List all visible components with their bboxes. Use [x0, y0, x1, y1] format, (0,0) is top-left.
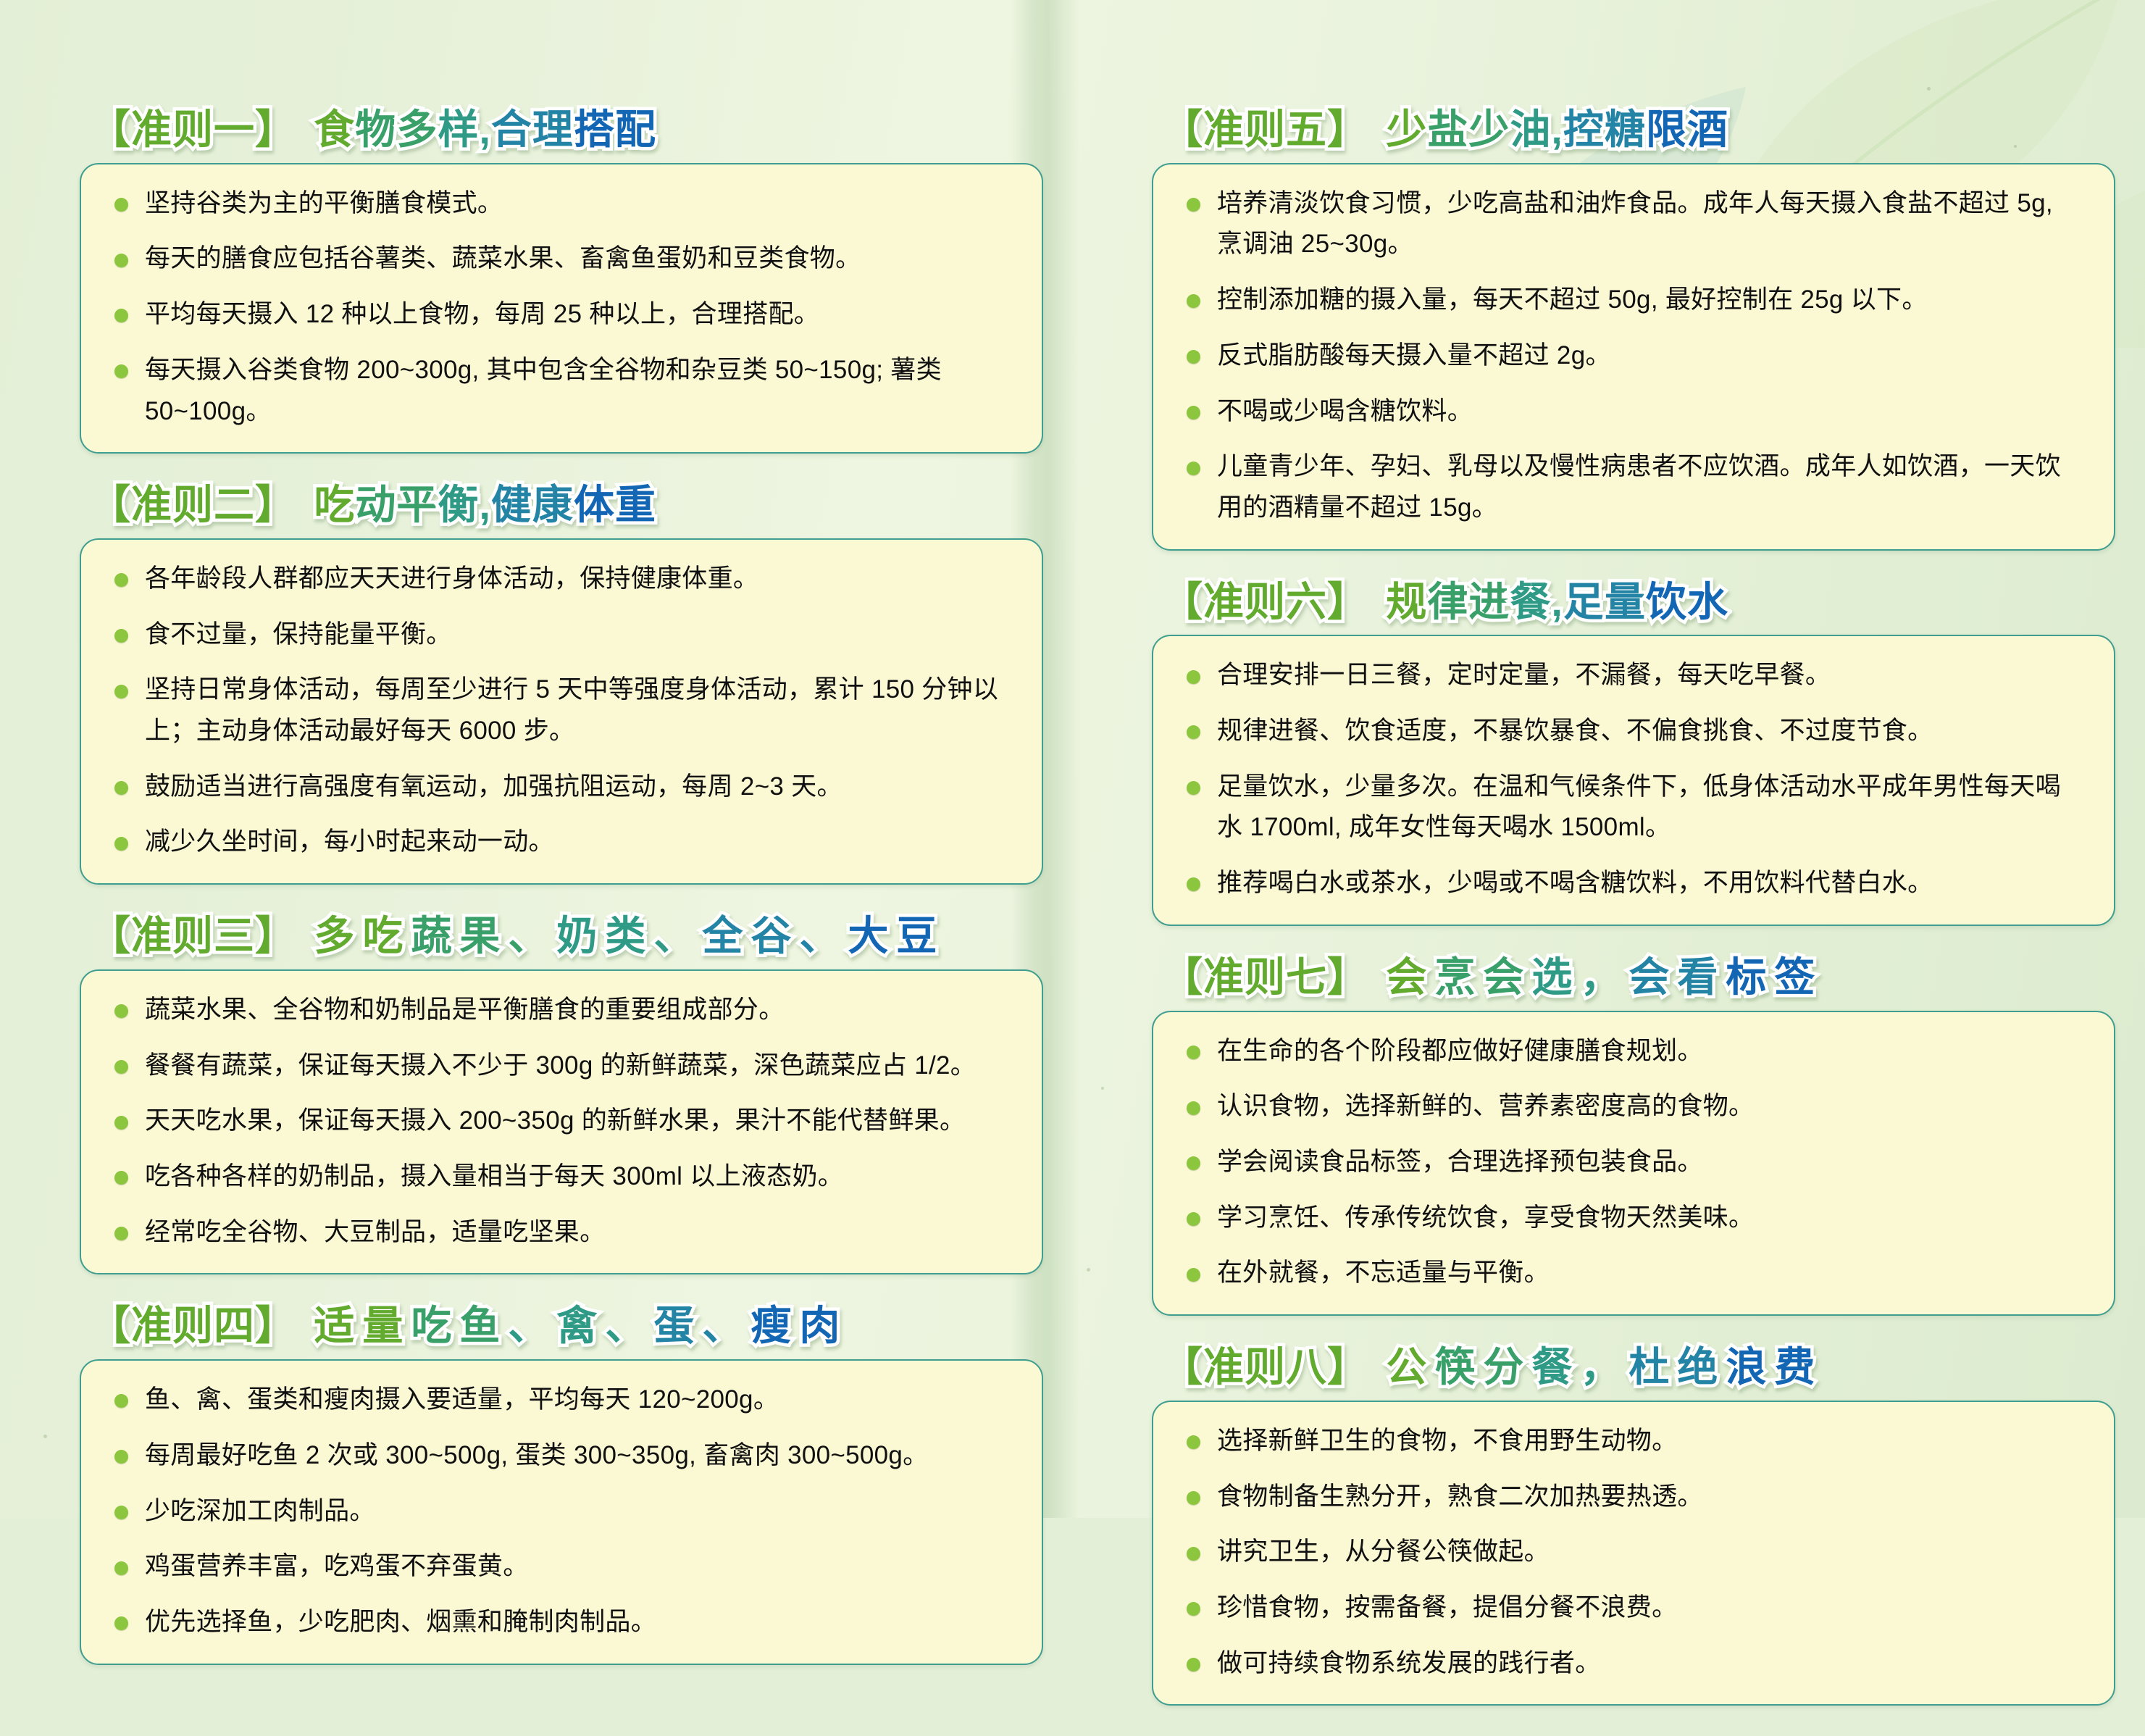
guideline-section: 【准则一】 食物多样,合理搭配坚持谷类为主的平衡膳食模式。每天的膳食应包括谷薯类…: [80, 109, 1043, 454]
bullet-dot-icon: [114, 1004, 128, 1018]
bullet-dot-icon: [1187, 294, 1200, 308]
bullet-dot-icon: [1187, 1268, 1200, 1282]
bullet-dot-icon: [1187, 1658, 1200, 1672]
section-label: 【准则八】: [1162, 1344, 1368, 1390]
list-item-text: 每周最好吃鱼 2 次或 300~500g, 蛋类 300~350g, 畜禽肉 3…: [145, 1441, 928, 1469]
bullet-dot-icon: [114, 309, 128, 322]
section-title-text: 会烹会选，会看标签: [1386, 954, 1823, 1000]
list-item-text: 学习烹饪、传承传统饮食，享受食物天然美味。: [1217, 1203, 1754, 1232]
list-item-text: 坚持日常身体活动，每周至少进行 5 天中等强度身体活动，累计 150 分钟以上；…: [145, 675, 998, 745]
list-item-text: 在生命的各个阶段都应做好健康膳食规划。: [1217, 1037, 1703, 1065]
section-title: 【准则三】 多吃蔬果、奶类、全谷、大豆: [80, 915, 1043, 958]
list-item: 珍惜食物，按需备餐，提倡分餐不浪费。: [1178, 1587, 2085, 1629]
list-item-text: 优先选择鱼，少吃肥肉、烟熏和腌制肉制品。: [145, 1608, 656, 1636]
section-title-text: 适量吃鱼、禽、蛋、瘦肉: [314, 1303, 848, 1348]
bullet-dot-icon: [114, 1561, 128, 1575]
list-item: 吃各种各样的奶制品，摄入量相当于每天 300ml 以上液态奶。: [106, 1156, 1013, 1198]
list-item: 不喝或少喝含糖饮料。: [1178, 391, 2085, 433]
guideline-section: 【准则六】 规律进餐,足量饮水合理安排一日三餐，定时定量，不漏餐，每天吃早餐。规…: [1152, 581, 2115, 926]
section-label: 【准则七】: [1162, 954, 1368, 1000]
guideline-list: 选择新鲜卫生的食物，不食用野生动物。食物制备生熟分开，熟食二次加热要热透。讲究卫…: [1178, 1421, 2085, 1684]
list-item: 坚持日常身体活动，每周至少进行 5 天中等强度身体活动，累计 150 分钟以上；…: [106, 669, 1013, 751]
section-title: 【准则四】 适量吃鱼、禽、蛋、瘦肉: [80, 1305, 1043, 1348]
list-item-text: 规律进餐、饮食适度，不暴饮暴食、不偏食挑食、不过度节食。: [1217, 717, 1933, 745]
list-item: 学会阅读食品标签，合理选择预包装食品。: [1178, 1142, 2085, 1183]
bullet-dot-icon: [1187, 725, 1200, 739]
list-item-text: 天天吃水果，保证每天摄入 200~350g 的新鲜水果，果汁不能代替鲜果。: [145, 1106, 965, 1135]
list-item-text: 鱼、禽、蛋类和瘦肉摄入要适量，平均每天 120~200g。: [145, 1385, 779, 1414]
list-item-text: 培养清淡饮食习惯，少吃高盐和油炸食品。成年人每天摄入食盐不超过 5g, 烹调油 …: [1217, 189, 2053, 259]
list-item: 培养清淡饮食习惯，少吃高盐和油炸食品。成年人每天摄入食盐不超过 5g, 烹调油 …: [1178, 183, 2085, 265]
bullet-dot-icon: [114, 1450, 128, 1464]
guideline-card: 选择新鲜卫生的食物，不食用野生动物。食物制备生熟分开，熟食二次加热要热透。讲究卫…: [1152, 1401, 2115, 1706]
list-item: 足量饮水，少量多次。在温和气候条件下，低身体活动水平成年男性每天喝水 1700m…: [1178, 767, 2085, 848]
list-item: 平均每天摄入 12 种以上食物，每周 25 种以上，合理搭配。: [106, 294, 1013, 335]
list-item-text: 鼓励适当进行高强度有氧运动，加强抗阻运动，每周 2~3 天。: [145, 772, 842, 801]
section-title: 【准则五】 少盐少油,控糖限酒: [1152, 109, 2115, 151]
list-item-text: 认识食物，选择新鲜的、营养素密度高的食物。: [1217, 1092, 1754, 1120]
list-item-text: 坚持谷类为主的平衡膳食模式。: [145, 189, 503, 217]
list-item-text: 在外就餐，不忘适量与平衡。: [1217, 1259, 1550, 1287]
list-item: 鸡蛋营养丰富，吃鸡蛋不弃蛋黄。: [106, 1546, 1013, 1587]
list-item: 在生命的各个阶段都应做好健康膳食规划。: [1178, 1031, 2085, 1072]
list-item: 合理安排一日三餐，定时定量，不漏餐，每天吃早餐。: [1178, 655, 2085, 696]
list-item-text: 足量饮水，少量多次。在温和气候条件下，低身体活动水平成年男性每天喝水 1700m…: [1217, 772, 2061, 842]
bullet-dot-icon: [1187, 1156, 1200, 1170]
bullet-dot-icon: [114, 573, 128, 587]
guideline-section: 【准则四】 适量吃鱼、禽、蛋、瘦肉鱼、禽、蛋类和瘦肉摄入要适量，平均每天 120…: [80, 1305, 1043, 1664]
bullet-dot-icon: [114, 254, 128, 267]
list-item: 坚持谷类为主的平衡膳食模式。: [106, 183, 1013, 225]
bullet-dot-icon: [114, 1171, 128, 1185]
list-item-text: 平均每天摄入 12 种以上食物，每周 25 种以上，合理搭配。: [145, 300, 819, 328]
list-item-text: 控制添加糖的摄入量，每天不超过 50g, 最好控制在 25g 以下。: [1217, 285, 1928, 314]
list-item: 讲究卫生，从分餐公筷做起。: [1178, 1532, 2085, 1573]
list-item: 控制添加糖的摄入量，每天不超过 50g, 最好控制在 25g 以下。: [1178, 280, 2085, 321]
bullet-dot-icon: [114, 685, 128, 698]
list-item: 减少久坐时间，每小时起来动一动。: [106, 822, 1013, 863]
bullet-dot-icon: [1187, 1491, 1200, 1505]
list-item: 推荐喝白水或茶水，少喝或不喝含糖饮料，不用饮料代替白水。: [1178, 863, 2085, 904]
bullet-dot-icon: [114, 1394, 128, 1408]
bullet-dot-icon: [114, 1060, 128, 1074]
list-item: 鱼、禽、蛋类和瘦肉摄入要适量，平均每天 120~200g。: [106, 1380, 1013, 1421]
speck: [43, 1435, 47, 1438]
list-item-text: 做可持续食物系统发展的践行者。: [1217, 1649, 1601, 1677]
bullet-dot-icon: [1187, 1435, 1200, 1449]
list-item: 经常吃全谷物、大豆制品，适量吃坚果。: [106, 1212, 1013, 1253]
guideline-card: 坚持谷类为主的平衡膳食模式。每天的膳食应包括谷薯类、蔬菜水果、畜禽鱼蛋奶和豆类食…: [80, 163, 1043, 454]
bullet-dot-icon: [114, 1116, 128, 1130]
list-item: 鼓励适当进行高强度有氧运动，加强抗阻运动，每周 2~3 天。: [106, 767, 1013, 808]
guideline-card: 合理安排一日三餐，定时定量，不漏餐，每天吃早餐。规律进餐、饮食适度，不暴饮暴食、…: [1152, 635, 2115, 925]
section-label: 【准则一】: [90, 107, 296, 152]
guideline-card: 蔬菜水果、全谷物和奶制品是平衡膳食的重要组成部分。餐餐有蔬菜，保证每天摄入不少于…: [80, 969, 1043, 1274]
bullet-dot-icon: [114, 364, 128, 378]
section-title-text: 规律进餐,足量饮水: [1386, 579, 1728, 625]
section-label: 【准则六】: [1162, 579, 1368, 625]
list-item: 在外就餐，不忘适量与平衡。: [1178, 1253, 2085, 1294]
guideline-section: 【准则八】 公筷分餐，杜绝浪费选择新鲜卫生的食物，不食用野生动物。食物制备生熟分…: [1152, 1346, 2115, 1706]
list-item-text: 学会阅读食品标签，合理选择预包装食品。: [1217, 1148, 1703, 1176]
speck: [1087, 1268, 1090, 1272]
list-item-text: 各年龄段人群都应天天进行身体活动，保持健康体重。: [145, 564, 758, 593]
bullet-dot-icon: [1187, 1547, 1200, 1561]
list-item: 规律进餐、饮食适度，不暴饮暴食、不偏食挑食、不过度节食。: [1178, 711, 2085, 752]
list-item: 天天吃水果，保证每天摄入 200~350g 的新鲜水果，果汁不能代替鲜果。: [106, 1101, 1013, 1142]
list-item-text: 经常吃全谷物、大豆制品，适量吃坚果。: [145, 1218, 605, 1246]
section-label: 【准则二】: [90, 482, 296, 527]
bullet-dot-icon: [1187, 1212, 1200, 1226]
guideline-card: 在生命的各个阶段都应做好健康膳食规划。认识食物，选择新鲜的、营养素密度高的食物。…: [1152, 1011, 2115, 1316]
section-title: 【准则六】 规律进餐,足量饮水: [1152, 581, 2115, 624]
list-item: 反式脂肪酸每天摄入量不超过 2g。: [1178, 335, 2085, 377]
guideline-list: 培养清淡饮食习惯，少吃高盐和油炸食品。成年人每天摄入食盐不超过 5g, 烹调油 …: [1178, 183, 2085, 529]
list-item-text: 珍惜食物，按需备餐，提倡分餐不浪费。: [1217, 1593, 1677, 1622]
list-item: 每周最好吃鱼 2 次或 300~500g, 蛋类 300~350g, 畜禽肉 3…: [106, 1435, 1013, 1477]
list-item: 认识食物，选择新鲜的、营养素密度高的食物。: [1178, 1086, 2085, 1127]
list-item: 每天摄入谷类食物 200~300g, 其中包含全谷物和杂豆类 50~150g; …: [106, 350, 1013, 432]
list-item-text: 推荐喝白水或茶水，少喝或不喝含糖饮料，不用饮料代替白水。: [1217, 869, 1933, 897]
bullet-dot-icon: [114, 1227, 128, 1240]
bullet-dot-icon: [114, 1616, 128, 1630]
list-item: 选择新鲜卫生的食物，不食用野生动物。: [1178, 1421, 2085, 1462]
list-item: 每天的膳食应包括谷薯类、蔬菜水果、畜禽鱼蛋奶和豆类食物。: [106, 238, 1013, 280]
bullet-dot-icon: [1187, 350, 1200, 364]
list-item-text: 食不过量，保持能量平衡。: [145, 620, 452, 648]
guideline-list: 各年龄段人群都应天天进行身体活动，保持健康体重。食不过量，保持能量平衡。坚持日常…: [106, 559, 1013, 863]
list-item: 少吃深加工肉制品。: [106, 1491, 1013, 1532]
bullet-dot-icon: [114, 837, 128, 851]
guideline-list: 合理安排一日三餐，定时定量，不漏餐，每天吃早餐。规律进餐、饮食适度，不暴饮暴食、…: [1178, 655, 2085, 904]
list-item-text: 反式脂肪酸每天摄入量不超过 2g。: [1217, 341, 1611, 370]
bullet-dot-icon: [114, 1506, 128, 1519]
section-label: 【准则三】: [90, 913, 296, 959]
list-item-text: 选择新鲜卫生的食物，不食用野生动物。: [1217, 1427, 1677, 1455]
list-item: 学习烹饪、传承传统饮食，享受食物天然美味。: [1178, 1198, 2085, 1239]
guideline-list: 在生命的各个阶段都应做好健康膳食规划。认识食物，选择新鲜的、营养素密度高的食物。…: [1178, 1031, 2085, 1294]
bullet-dot-icon: [114, 781, 128, 795]
bullet-dot-icon: [1187, 1602, 1200, 1616]
list-item: 食不过量，保持能量平衡。: [106, 614, 1013, 656]
left-column: 【准则一】 食物多样,合理搭配坚持谷类为主的平衡膳食模式。每天的膳食应包括谷薯类…: [80, 109, 1043, 1695]
list-item-text: 餐餐有蔬菜，保证每天摄入不少于 300g 的新鲜蔬菜，深色蔬菜应占 1/2。: [145, 1051, 976, 1080]
list-item-text: 儿童青少年、孕妇、乳母以及慢性病患者不应饮酒。成年人如饮酒，一天饮用的酒精量不超…: [1217, 452, 2061, 522]
section-label: 【准则四】: [90, 1303, 296, 1348]
bullet-dot-icon: [1187, 877, 1200, 891]
list-item-text: 减少久坐时间，每小时起来动一动。: [145, 827, 554, 856]
guideline-card: 培养清淡饮食习惯，少吃高盐和油炸食品。成年人每天摄入食盐不超过 5g, 烹调油 …: [1152, 163, 2115, 551]
section-title-text: 多吃蔬果、奶类、全谷、大豆: [314, 913, 945, 959]
guideline-list: 蔬菜水果、全谷物和奶制品是平衡膳食的重要组成部分。餐餐有蔬菜，保证每天摄入不少于…: [106, 990, 1013, 1253]
bullet-dot-icon: [114, 629, 128, 643]
list-item: 蔬菜水果、全谷物和奶制品是平衡膳食的重要组成部分。: [106, 990, 1013, 1031]
section-title-text: 吃动平衡,健康体重: [314, 482, 656, 527]
section-label: 【准则五】: [1162, 107, 1368, 152]
list-item: 各年龄段人群都应天天进行身体活动，保持健康体重。: [106, 559, 1013, 600]
list-item-text: 鸡蛋营养丰富，吃鸡蛋不弃蛋黄。: [145, 1552, 529, 1580]
section-title-text: 少盐少油,控糖限酒: [1386, 107, 1728, 152]
list-item-text: 食物制备生熟分开，熟食二次加热要热透。: [1217, 1482, 1703, 1511]
list-item-text: 每天的膳食应包括谷薯类、蔬菜水果、畜禽鱼蛋奶和豆类食物。: [145, 244, 861, 272]
guideline-list: 鱼、禽、蛋类和瘦肉摄入要适量，平均每天 120~200g。每周最好吃鱼 2 次或…: [106, 1380, 1013, 1643]
right-column: 【准则五】 少盐少油,控糖限酒培养清淡饮食习惯，少吃高盐和油炸食品。成年人每天摄…: [1152, 109, 2115, 1736]
section-title: 【准则二】 吃动平衡,健康体重: [80, 484, 1043, 527]
bullet-dot-icon: [1187, 781, 1200, 795]
list-item: 优先选择鱼，少吃肥肉、烟熏和腌制肉制品。: [106, 1602, 1013, 1643]
guideline-section: 【准则二】 吃动平衡,健康体重各年龄段人群都应天天进行身体活动，保持健康体重。食…: [80, 484, 1043, 885]
list-item: 儿童青少年、孕妇、乳母以及慢性病患者不应饮酒。成年人如饮酒，一天饮用的酒精量不超…: [1178, 446, 2085, 528]
speck: [1927, 87, 1931, 91]
list-item-text: 不喝或少喝含糖饮料。: [1217, 397, 1473, 425]
bullet-dot-icon: [114, 198, 128, 212]
guideline-section: 【准则三】 多吃蔬果、奶类、全谷、大豆蔬菜水果、全谷物和奶制品是平衡膳食的重要组…: [80, 915, 1043, 1274]
list-item-text: 蔬菜水果、全谷物和奶制品是平衡膳食的重要组成部分。: [145, 996, 785, 1024]
section-title-text: 公筷分餐，杜绝浪费: [1386, 1344, 1823, 1390]
bullet-dot-icon: [1187, 198, 1200, 212]
list-item: 食物制备生熟分开，熟食二次加热要热透。: [1178, 1477, 2085, 1518]
section-title: 【准则七】 会烹会选，会看标签: [1152, 956, 2115, 999]
list-item-text: 少吃深加工肉制品。: [145, 1497, 375, 1525]
list-item-text: 合理安排一日三餐，定时定量，不漏餐，每天吃早餐。: [1217, 661, 1831, 689]
list-item-text: 每天摄入谷类食物 200~300g, 其中包含全谷物和杂豆类 50~150g; …: [145, 356, 942, 425]
list-item-text: 讲究卫生，从分餐公筷做起。: [1217, 1537, 1550, 1566]
bullet-dot-icon: [1187, 462, 1200, 475]
guideline-card: 鱼、禽、蛋类和瘦肉摄入要适量，平均每天 120~200g。每周最好吃鱼 2 次或…: [80, 1359, 1043, 1664]
section-title: 【准则八】 公筷分餐，杜绝浪费: [1152, 1346, 2115, 1389]
list-item: 做可持续食物系统发展的践行者。: [1178, 1643, 2085, 1685]
guideline-list: 坚持谷类为主的平衡膳食模式。每天的膳食应包括谷薯类、蔬菜水果、畜禽鱼蛋奶和豆类食…: [106, 183, 1013, 432]
section-title-text: 食物多样,合理搭配: [314, 107, 656, 152]
bullet-dot-icon: [1187, 670, 1200, 684]
guideline-card: 各年龄段人群都应天天进行身体活动，保持健康体重。食不过量，保持能量平衡。坚持日常…: [80, 538, 1043, 885]
speck: [1101, 1087, 1104, 1090]
bullet-dot-icon: [1187, 406, 1200, 420]
bullet-dot-icon: [1187, 1046, 1200, 1059]
section-title: 【准则一】 食物多样,合理搭配: [80, 109, 1043, 151]
list-item-text: 吃各种各样的奶制品，摄入量相当于每天 300ml 以上液态奶。: [145, 1162, 843, 1190]
list-item: 餐餐有蔬菜，保证每天摄入不少于 300g 的新鲜蔬菜，深色蔬菜应占 1/2。: [106, 1046, 1013, 1087]
bullet-dot-icon: [1187, 1101, 1200, 1115]
guideline-section: 【准则七】 会烹会选，会看标签在生命的各个阶段都应做好健康膳食规划。认识食物，选…: [1152, 956, 2115, 1316]
guideline-section: 【准则五】 少盐少油,控糖限酒培养清淡饮食习惯，少吃高盐和油炸食品。成年人每天摄…: [1152, 109, 2115, 551]
